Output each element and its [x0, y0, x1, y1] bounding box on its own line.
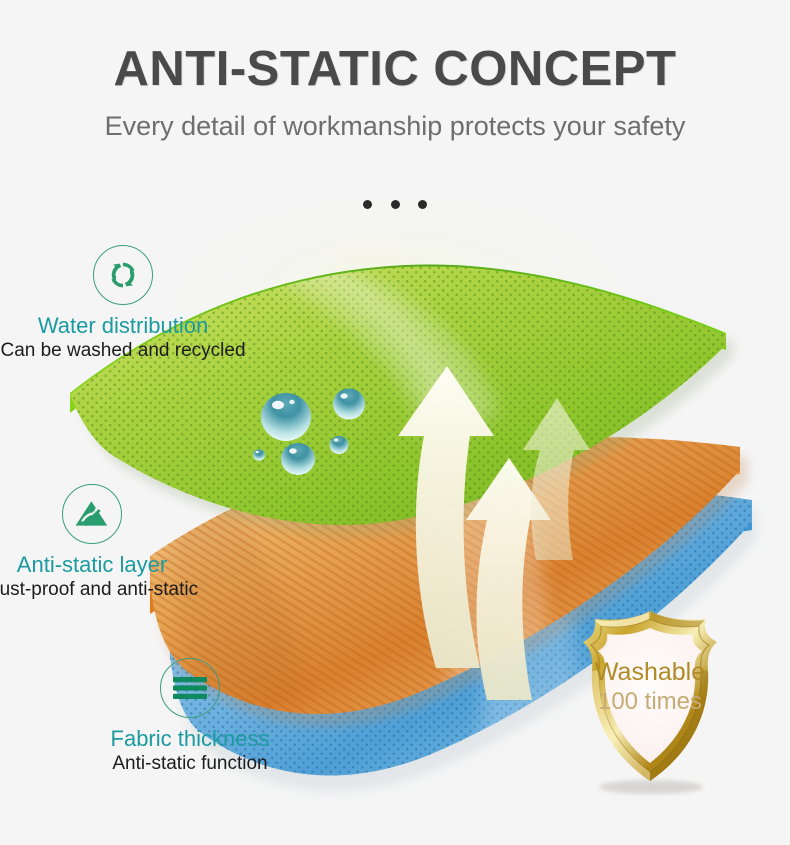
feature-anti-static-layer: Anti-static layer Dust-proof and anti-st… — [0, 484, 222, 602]
dot-2 — [391, 200, 400, 209]
decorative-dots — [0, 196, 790, 214]
feature-subtitle: Can be washed and recycled — [0, 340, 246, 363]
feature-title: Fabric thickness — [90, 726, 290, 751]
page-title: ANTI-STATIC CONCEPT — [0, 0, 790, 95]
feature-subtitle: Anti-static function — [90, 753, 290, 776]
anti-static-concept-poster: ANTI-STATIC CONCEPT Every detail of work… — [0, 0, 790, 845]
dot-3 — [418, 200, 427, 209]
recycle-arrows-icon — [93, 245, 153, 305]
washable-shield-badge: Washable 100 times — [565, 605, 735, 797]
page-subtitle: Every detail of workmanship protects you… — [0, 95, 790, 142]
feature-fabric-thickness: Fabric thickness Anti-static function — [90, 658, 290, 776]
stacked-layers-icon — [160, 658, 220, 718]
feature-title: Anti-static layer — [0, 552, 222, 577]
dot-1 — [363, 200, 372, 209]
feature-title: Water distribution — [0, 313, 246, 338]
header: ANTI-STATIC CONCEPT Every detail of work… — [0, 0, 790, 142]
esd-triangle-hand-icon — [62, 484, 122, 544]
feature-water-distribution: Water distribution Can be washed and rec… — [0, 245, 246, 363]
feature-subtitle: Dust-proof and anti-static — [0, 579, 222, 602]
